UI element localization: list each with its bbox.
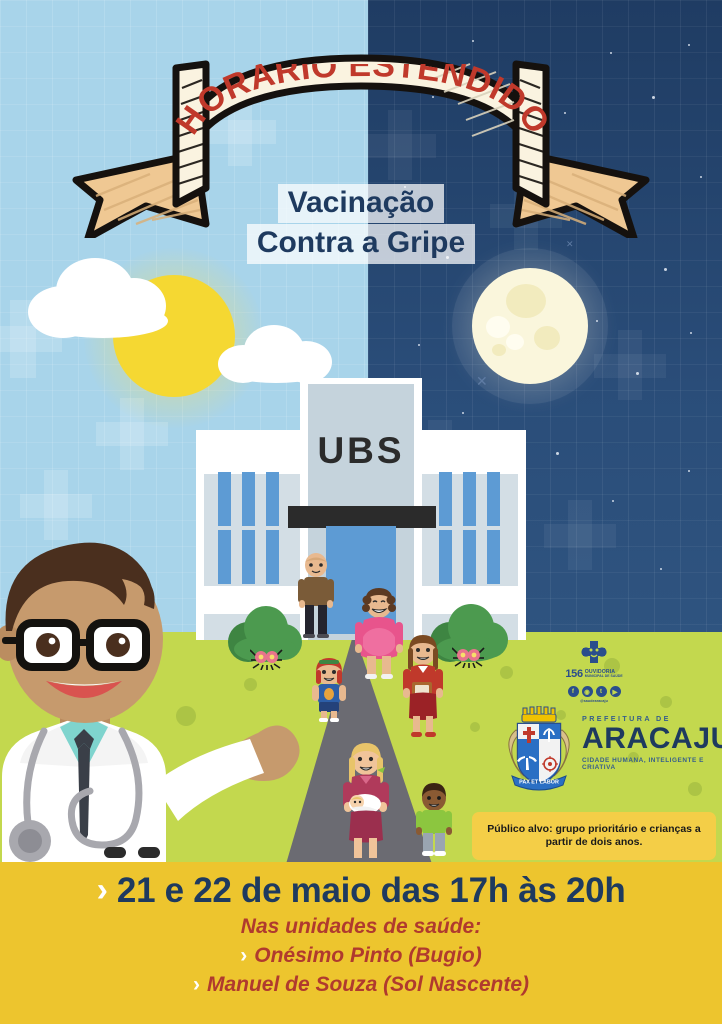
unit-row-1: › Onésimo Pinto (Bugio) bbox=[0, 944, 722, 968]
social-handle: @saudearacaju bbox=[560, 699, 628, 703]
youtube-icon[interactable]: ▶ bbox=[610, 686, 621, 697]
ubs-building-label: UBS bbox=[300, 430, 422, 472]
cloud-icon-right bbox=[218, 325, 334, 383]
ouvidoria-cross-icon bbox=[581, 640, 607, 666]
social-media-icons[interactable]: f ◉ t ▶ bbox=[560, 686, 628, 697]
unit-name-2: Manuel de Souza (Sol Nascente) bbox=[207, 973, 529, 997]
twitter-icon[interactable]: t bbox=[596, 686, 607, 697]
coat-motto: PAX ET LABOR bbox=[519, 780, 559, 786]
ribbon-title-text: HORÁRIO ESTENDIDO bbox=[172, 64, 554, 141]
date-line-text: 21 e 22 de maio das 17h às 20h bbox=[117, 871, 626, 911]
units-label: Nas unidades de saúde: bbox=[0, 915, 722, 939]
ouvidoria-subtitle: MUNICIPAL DE SAÚDE bbox=[585, 675, 623, 678]
subtitle-line-1: Vacinação bbox=[278, 184, 445, 223]
footer-details-banner: › 21 e 22 de maio das 17h às 20h Nas uni… bbox=[0, 862, 722, 1024]
poster-subtitle: Vacinação Contra a Gripe bbox=[0, 184, 722, 264]
flower-right bbox=[452, 644, 486, 668]
ouvidoria-number: 156 bbox=[565, 668, 582, 680]
date-line-row: › 21 e 22 de maio das 17h às 20h bbox=[0, 871, 722, 911]
instagram-icon[interactable]: ◉ bbox=[582, 686, 593, 697]
chevron-icon-unit-1: › bbox=[240, 948, 247, 965]
doctor-character bbox=[0, 505, 316, 865]
chevron-icon-date: › bbox=[97, 877, 108, 904]
subtitle-line-2: Contra a Gripe bbox=[247, 224, 475, 263]
chevron-icon-unit-2: › bbox=[193, 977, 200, 994]
person-mother-with-baby bbox=[338, 742, 394, 860]
target-audience-box: Público alvo: grupo prioritário e crianç… bbox=[472, 812, 716, 860]
city-tagline: CIDADE HUMANA, INTELIGENTE E CRIATIVA bbox=[582, 757, 716, 771]
ouvidoria-logo: 156 OUVIDORIA MUNICIPAL DE SAÚDE f ◉ t ▶… bbox=[560, 640, 628, 703]
cloud-icon-left bbox=[28, 258, 178, 338]
facebook-icon[interactable]: f bbox=[568, 686, 579, 697]
target-audience-text: Público alvo: grupo prioritário e crianç… bbox=[482, 823, 706, 849]
aracaju-coat-of-arms: PAX ET LABOR bbox=[498, 706, 580, 794]
svg-text:HORÁRIO ESTENDIDO: HORÁRIO ESTENDIDO bbox=[172, 64, 554, 141]
person-boy-green bbox=[412, 782, 456, 858]
moon-icon bbox=[472, 268, 588, 384]
unit-name-1: Onésimo Pinto (Bugio) bbox=[254, 944, 481, 968]
unit-row-2: › Manuel de Souza (Sol Nascente) bbox=[0, 973, 722, 997]
person-woman-red bbox=[398, 634, 448, 738]
city-name: ARACAJU bbox=[582, 724, 716, 754]
ribbon-title-area: HORÁRIO ESTENDIDO bbox=[172, 64, 554, 204]
vaccination-campaign-poster: ✕ ✕ bbox=[0, 0, 722, 1024]
prefeitura-aracaju-logo: PAX ET LABOR PREFEITURA DE ARACAJU CIDAD… bbox=[498, 706, 716, 798]
